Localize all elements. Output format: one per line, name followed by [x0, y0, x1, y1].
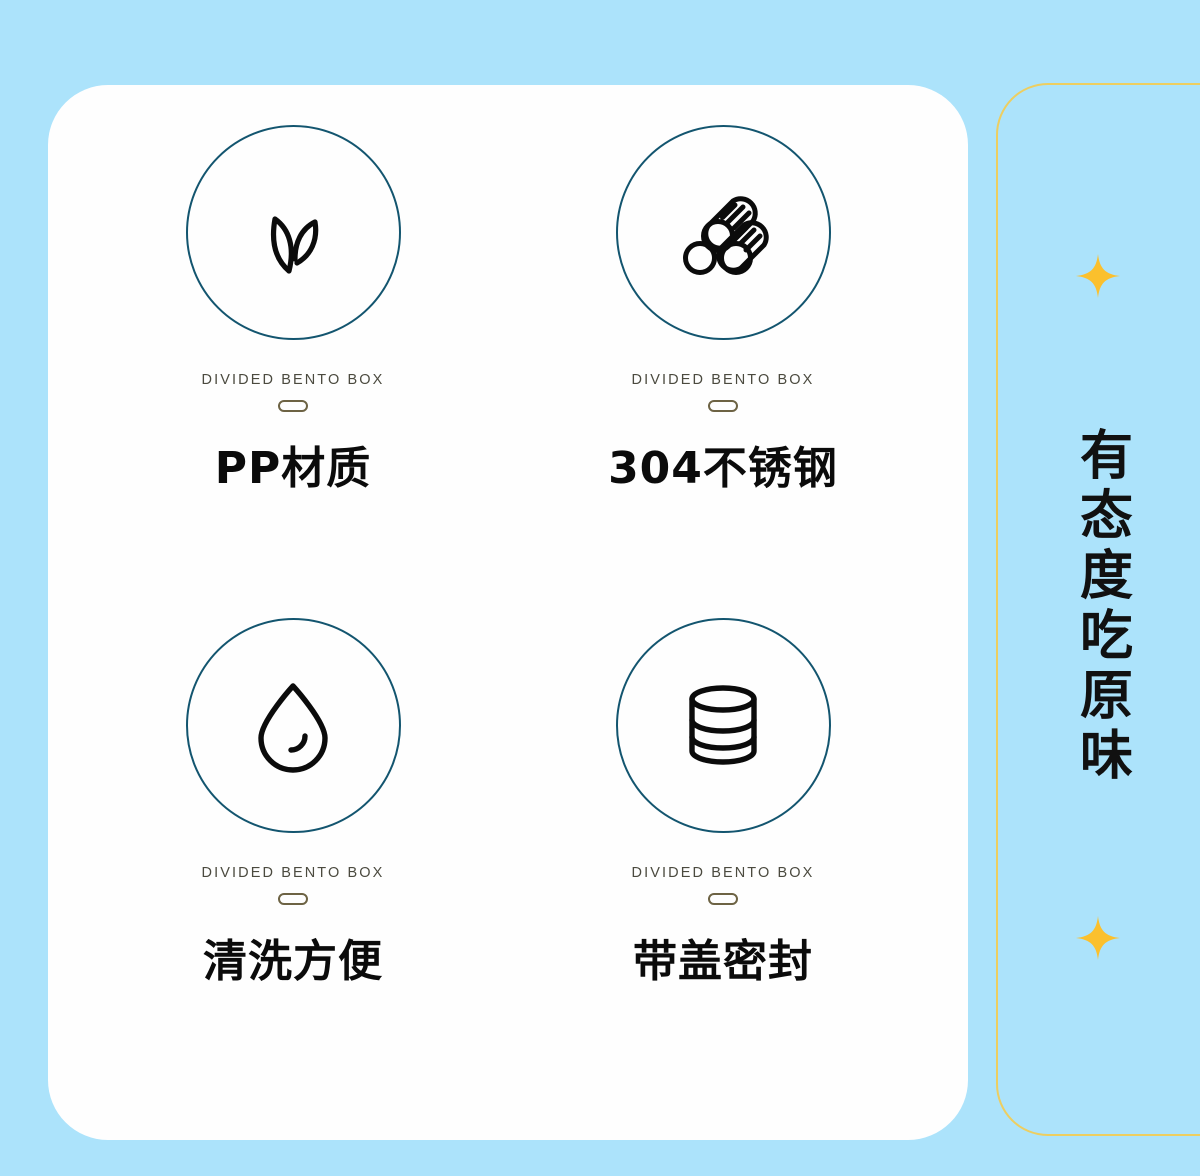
four-point-sparkle-icon [1075, 253, 1121, 299]
water-drop-icon [249, 676, 337, 774]
steel-rods-stack-icon [673, 183, 773, 283]
feature-headline: 清洗方便 [203, 925, 383, 989]
pill-divider [278, 400, 308, 412]
feature-card: DIVIDED BENTO BOX PP材质 [48, 85, 968, 1140]
icon-circle [616, 618, 831, 833]
pill-divider [708, 400, 738, 412]
sprout-leaves-icon [245, 185, 341, 281]
icon-circle [186, 618, 401, 833]
icon-circle [186, 125, 401, 340]
feature-item-pp-material[interactable]: DIVIDED BENTO BOX PP材质 [78, 125, 508, 618]
promo-banner: DIVIDED BENTO BOX PP材质 [0, 0, 1200, 1176]
feature-eyebrow: DIVIDED BENTO BOX [632, 372, 815, 388]
feature-eyebrow: DIVIDED BENTO BOX [202, 865, 385, 881]
feature-eyebrow: DIVIDED BENTO BOX [202, 372, 385, 388]
feature-item-304-stainless-steel[interactable]: DIVIDED BENTO BOX 304不锈钢 [508, 125, 938, 618]
feature-eyebrow: DIVIDED BENTO BOX [632, 865, 815, 881]
pill-divider [708, 893, 738, 905]
pill-divider [278, 893, 308, 905]
icon-circle [616, 125, 831, 340]
side-rail: 有态度吃原味 [996, 83, 1200, 1136]
four-point-sparkle-icon [1075, 915, 1121, 961]
lidded-container-icon [676, 679, 770, 771]
feature-headline: PP材质 [215, 432, 372, 496]
feature-grid: DIVIDED BENTO BOX PP材质 [48, 85, 968, 1140]
vertical-slogan: 有态度吃原味 [1076, 427, 1129, 787]
feature-item-sealed-lid[interactable]: DIVIDED BENTO BOX 带盖密封 [508, 618, 938, 1111]
feature-item-easy-to-clean[interactable]: DIVIDED BENTO BOX 清洗方便 [78, 618, 508, 1111]
feature-headline: 304不锈钢 [608, 432, 838, 496]
feature-headline: 带盖密封 [633, 925, 813, 989]
